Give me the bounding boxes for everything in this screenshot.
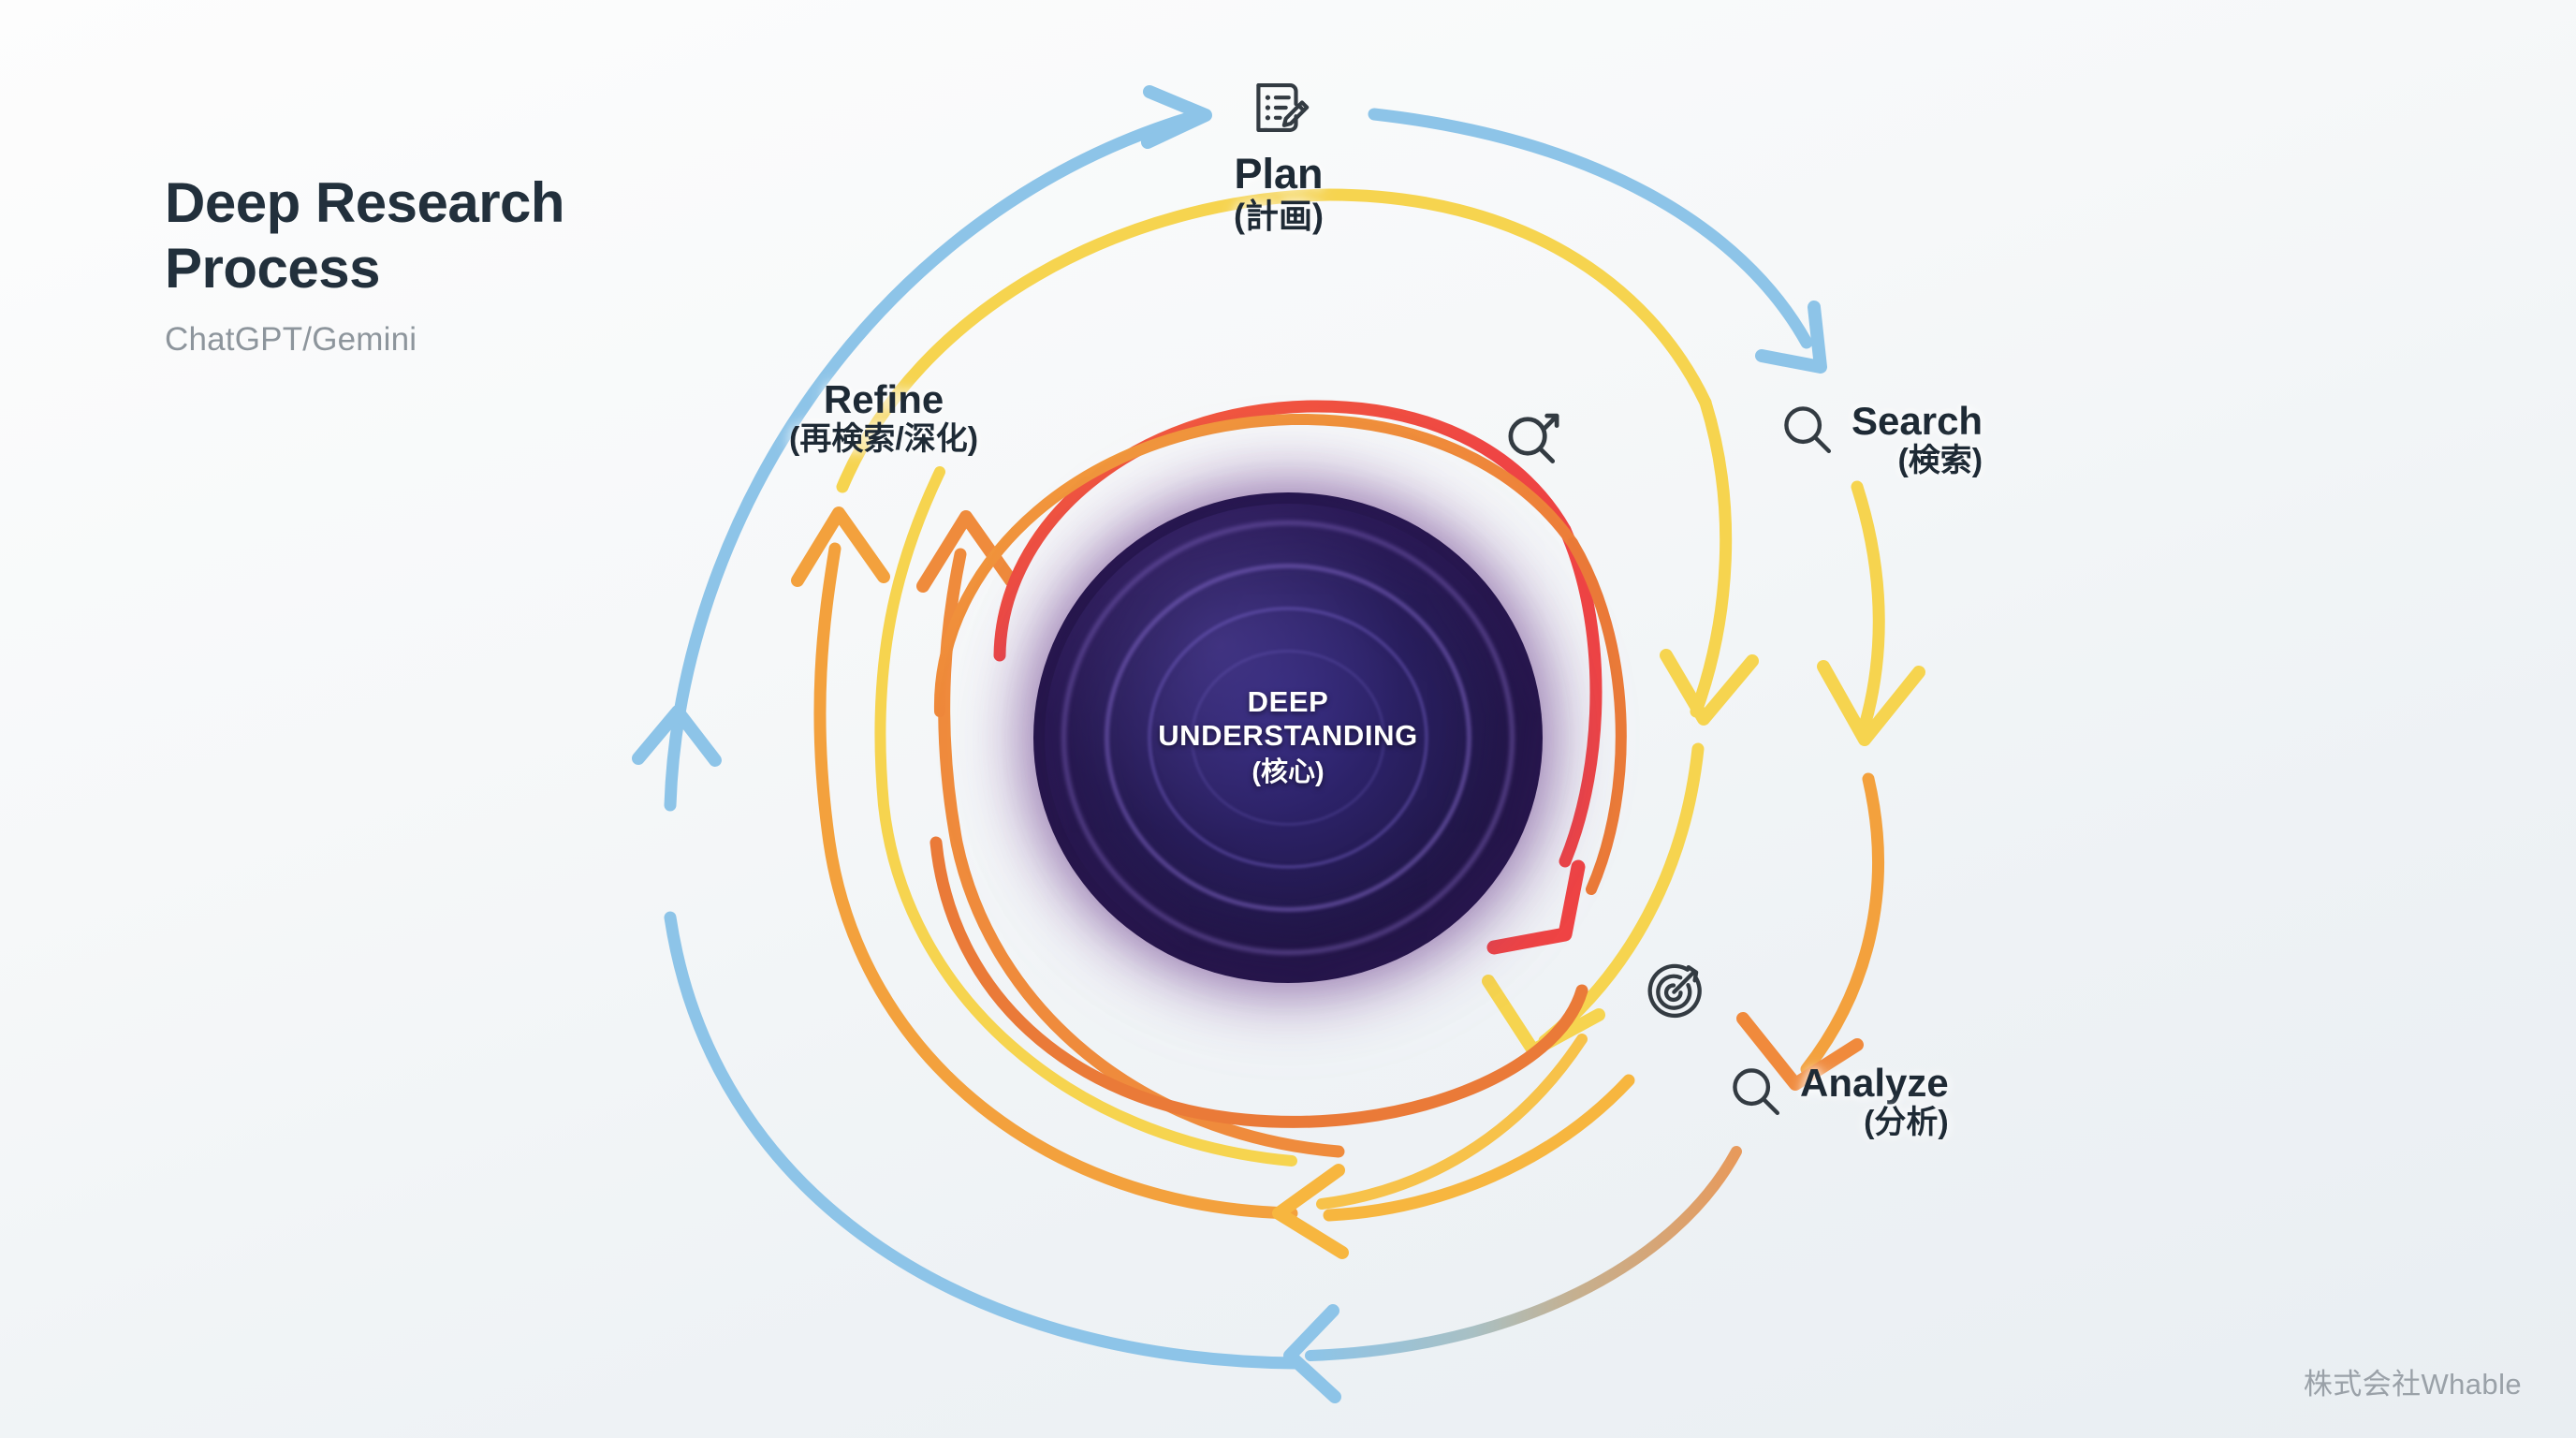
diagram-canvas: DEEP UNDERSTANDING (核心) Deep Research Pr… [0, 0, 2576, 1438]
arc-amber-to-analyze [1807, 779, 1879, 1069]
arc-yellow-right-col [1857, 487, 1879, 732]
stage-node-refine[interactable]: Refine (再検索/深化) [789, 379, 978, 458]
magnifier-arrow-up-right-icon [1500, 401, 1571, 477]
stage-label-plan-en: Plan [1234, 153, 1323, 197]
stage-label-refine-jp: (再検索/深化) [789, 420, 978, 458]
stage-label-analyze-jp: (分析) [1864, 1104, 1949, 1141]
arc-yellow-down-right [1696, 403, 1726, 712]
stage-node-plan[interactable]: Plan (計画) [1234, 73, 1324, 236]
arc-gradient-return [1310, 1152, 1736, 1356]
page-title-line1: Deep Research [165, 170, 564, 236]
stage-node-search[interactable]: Search (検索) [1778, 401, 1983, 479]
stage-label-analyze-en: Analyze [1800, 1063, 1949, 1104]
target-arrow-icon [1640, 957, 1709, 1031]
core-label-line1: DEEP [1158, 685, 1418, 720]
page-title-line2: Process [165, 236, 564, 301]
stage-label-refine-en: Refine [824, 379, 944, 420]
magnifier-icon [1727, 1063, 1787, 1127]
stage-node-analyze[interactable]: Analyze (分析) [1727, 1063, 1949, 1141]
core-label-line3: (核心) [1158, 756, 1418, 791]
company-watermark: 株式会社Whable [2304, 1360, 2522, 1402]
magnifier-icon [1778, 401, 1838, 465]
stage-label-search-jp: (検索) [1897, 442, 1983, 479]
clipboard-pencil-icon [1244, 73, 1313, 147]
stage-label-plan-jp: (計画) [1234, 197, 1324, 236]
core-orb: DEEP UNDERSTANDING (核心) [1007, 466, 1569, 1009]
page-title-block: Deep Research Process ChatGPT/Gemini [165, 170, 564, 359]
arc-outer-blue-plan-to-search [1374, 114, 1807, 343]
page-subtitle: ChatGPT/Gemini [165, 321, 564, 359]
core-label-line2: UNDERSTANDING [1158, 719, 1418, 754]
stage-label-search-en: Search [1851, 401, 1983, 442]
core-label: DEEP UNDERSTANDING (核心) [1158, 685, 1418, 791]
